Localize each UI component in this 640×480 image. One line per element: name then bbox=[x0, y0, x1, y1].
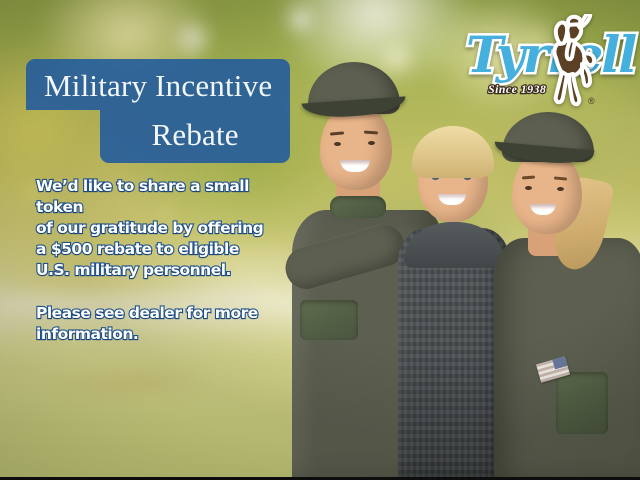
tyrrell-logo[interactable]: Tyrrell bbox=[466, 16, 634, 110]
body-copy-line-4: U.S. military personnel. bbox=[36, 260, 296, 281]
headline-line-2: Rebate bbox=[100, 110, 290, 163]
body-copy-spacer bbox=[36, 281, 296, 303]
dealer-note-line-2: information. bbox=[36, 324, 296, 345]
body-copy-line-3: a $500 rebate to eligible bbox=[36, 239, 296, 260]
dealer-note-line-1: Please see dealer for more bbox=[36, 303, 296, 324]
military-incentive-rebate-ad: Military Incentive Rebate We’d like to s… bbox=[0, 0, 640, 480]
headline-line-1: Military Incentive bbox=[26, 59, 290, 110]
body-copy: We’d like to share a small token of our … bbox=[36, 176, 296, 345]
body-copy-line-1: We’d like to share a small token bbox=[36, 176, 296, 218]
headline-banner: Military Incentive Rebate bbox=[26, 59, 290, 163]
body-copy-line-2: of our gratitude by offering bbox=[36, 218, 296, 239]
tyrrell-tagline: Since 1938 bbox=[488, 82, 546, 97]
registered-trademark-mark: ® bbox=[588, 96, 595, 106]
